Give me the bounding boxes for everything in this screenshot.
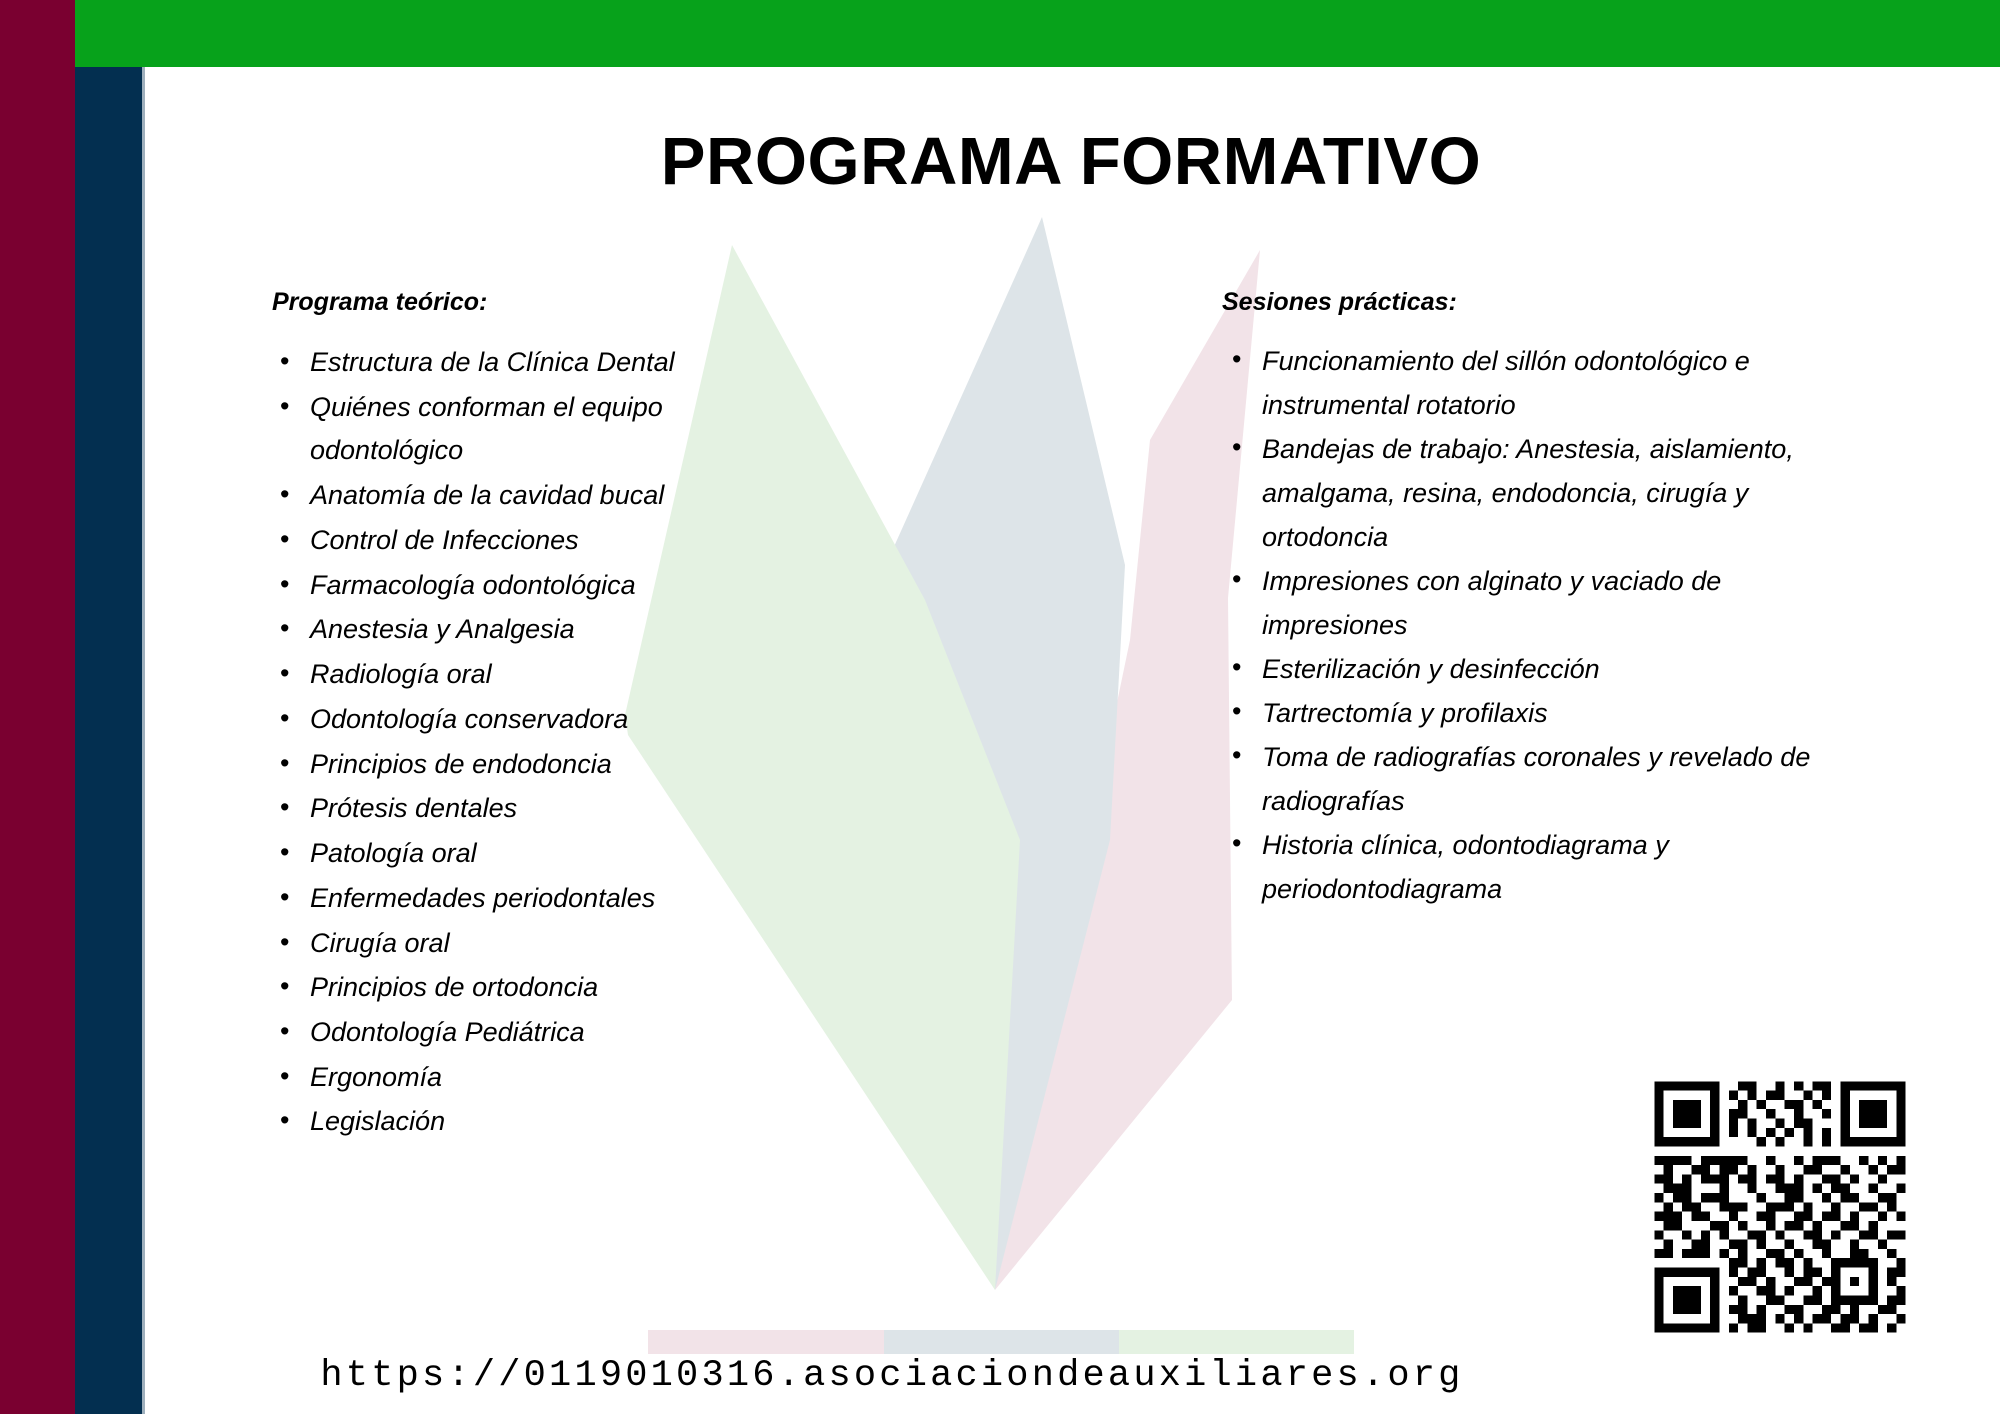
list-item: Anatomía de la cavidad bucal bbox=[272, 474, 742, 518]
left-maroon-stripe bbox=[0, 0, 75, 1414]
list-item: Funcionamiento del sillón odontológico e… bbox=[1222, 339, 1842, 427]
list-item: Estructura de la Clínica Dental bbox=[272, 341, 742, 385]
page-title: PROGRAMA FORMATIVO bbox=[142, 127, 2000, 197]
list-item: Impresiones con alginato y vaciado de im… bbox=[1222, 559, 1842, 647]
list-item: Historia clínica, odontodiagrama y perio… bbox=[1222, 823, 1842, 911]
qr-code[interactable] bbox=[1645, 1072, 1915, 1342]
list-item: Prótesis dentales bbox=[272, 787, 742, 831]
theory-program-list: Estructura de la Clínica Dental Quiénes … bbox=[272, 341, 742, 1144]
poster-canvas: PROGRAMA FORMATIVO Programa teórico: Est… bbox=[0, 0, 2000, 1414]
list-item: Principios de endodoncia bbox=[272, 743, 742, 787]
list-item: Toma de radiografías coronales y revelad… bbox=[1222, 735, 1842, 823]
theory-program-heading: Programa teórico: bbox=[272, 287, 742, 317]
band-segment-blue bbox=[884, 1330, 1119, 1354]
list-item: Anestesia y Analgesia bbox=[272, 608, 742, 652]
list-item: Radiología oral bbox=[272, 653, 742, 697]
shape-pink-spear bbox=[995, 250, 1260, 1290]
list-item: Esterilización y desinfección bbox=[1222, 647, 1842, 691]
website-url[interactable]: https://0119010316.asociaciondeauxiliare… bbox=[142, 1355, 1642, 1397]
shape-blue-spear bbox=[880, 217, 1125, 1290]
practical-sessions-heading: Sesiones prácticas: bbox=[1222, 287, 1842, 317]
left-navy-stripe-edge bbox=[142, 67, 145, 1414]
list-item: Odontología Pediátrica bbox=[272, 1011, 742, 1055]
theory-program-column: Programa teórico: Estructura de la Clíni… bbox=[272, 287, 742, 1145]
list-item: Patología oral bbox=[272, 832, 742, 876]
band-segment-pink bbox=[648, 1330, 884, 1354]
list-item: Quiénes conforman el equipo odontológico bbox=[272, 386, 742, 473]
list-item: Legislación bbox=[272, 1100, 742, 1144]
list-item: Tartrectomía y profilaxis bbox=[1222, 691, 1842, 735]
list-item: Enfermedades periodontales bbox=[272, 877, 742, 921]
list-item: Cirugía oral bbox=[272, 922, 742, 966]
list-item: Control de Infecciones bbox=[272, 519, 742, 563]
list-item: Ergonomía bbox=[272, 1056, 742, 1100]
left-navy-stripe bbox=[75, 67, 142, 1414]
band-segment-green bbox=[1119, 1330, 1354, 1354]
practical-sessions-column: Sesiones prácticas: Funcionamiento del s… bbox=[1222, 287, 1842, 911]
qr-code-icon bbox=[1645, 1072, 1915, 1342]
list-item: Bandejas de trabajo: Anestesia, aislamie… bbox=[1222, 427, 1842, 559]
list-item: Farmacología odontológica bbox=[272, 564, 742, 608]
list-item: Odontología conservadora bbox=[272, 698, 742, 742]
list-item: Principios de ortodoncia bbox=[272, 966, 742, 1010]
top-green-bar bbox=[75, 0, 2000, 67]
practical-sessions-list: Funcionamiento del sillón odontológico e… bbox=[1222, 339, 1842, 911]
bottom-color-band bbox=[648, 1330, 1354, 1354]
